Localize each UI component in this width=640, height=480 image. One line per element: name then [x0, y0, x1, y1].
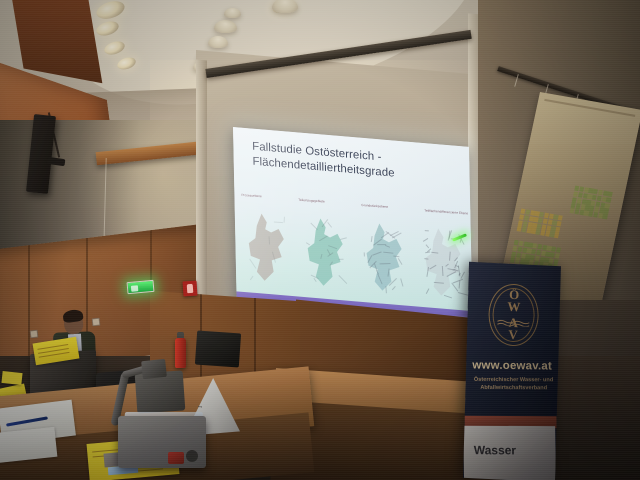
lecture-hall-photo: Fallstudie Ostösterreich - Flächendetail… [0, 0, 640, 480]
column-label: Prozessebene [241, 193, 262, 198]
dome-light-icon [272, 0, 298, 13]
presentation-slide: Fallstudie Ostösterreich - Flächendetail… [233, 127, 473, 327]
map-thumbnail [242, 209, 293, 293]
map-network-lines [242, 209, 293, 293]
map-network-lines [301, 214, 352, 298]
dome-light-icon [214, 20, 237, 33]
projection-screen: Fallstudie Ostösterreich - Flächendetail… [233, 127, 473, 327]
slide-title: Fallstudie Ostösterreich - Flächendetail… [252, 139, 456, 187]
emergency-exit-sign [127, 280, 155, 294]
tent-sign-text: ▪▪▪ [198, 404, 203, 409]
map-thumbnail [301, 214, 352, 298]
projector-focus-knob[interactable] [186, 450, 198, 462]
map-thumbnail [360, 219, 411, 303]
banner-shading [463, 262, 561, 480]
side-flyer [1, 371, 22, 385]
power-socket[interactable] [30, 330, 39, 339]
column-label: Teileinzugsgebiete [298, 198, 324, 204]
projector-power-switch[interactable] [168, 452, 184, 464]
column-label: Grundstücksebene [361, 203, 388, 209]
slide-map-series [242, 209, 470, 307]
fire-extinguisher-icon [175, 338, 186, 368]
dome-light-icon [224, 8, 241, 18]
map-network-lines [360, 219, 411, 303]
oewav-rollup-banner: ÖWAVwww.oewav.atÖsterreichischer Wasser-… [463, 262, 561, 480]
column-label: Teilflächendifferenzierte Ebene [424, 208, 468, 215]
wall-display-dark [195, 331, 241, 368]
fire-equipment-sign [182, 281, 197, 297]
projector-head [141, 359, 167, 379]
dome-light-icon [208, 36, 228, 48]
